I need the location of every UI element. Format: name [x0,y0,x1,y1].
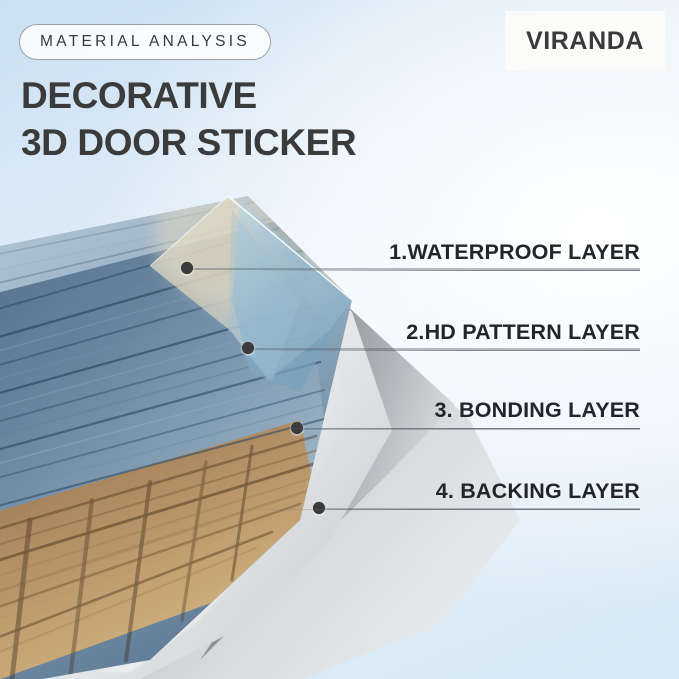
callout-rule [260,350,640,351]
callout-label: 2.HD PATTERN LAYER [260,320,640,350]
brand-name: VIRANDA [526,27,644,56]
callout-label: 3. BONDING LAYER [260,398,640,428]
badge-label: MATERIAL ANALYSIS [40,33,250,51]
headline-line-1: DECORATIVE [21,75,257,116]
page-title: DECORATIVE 3D DOOR STICKER [21,72,356,167]
brand-logo: VIRANDA [505,11,665,71]
leader-dot [242,342,254,354]
callout-hd-pattern-layer: 2.HD PATTERN LAYER [260,320,640,351]
callout-rule [260,270,640,271]
callout-backing-layer: 4. BACKING LAYER [260,479,640,510]
headline-line-2: 3D DOOR STICKER [21,119,356,166]
leader-dot [181,262,193,274]
callout-rule [260,509,640,510]
material-analysis-badge: MATERIAL ANALYSIS [19,24,271,60]
callout-bonding-layer: 3. BONDING LAYER [260,398,640,429]
poster-canvas: MATERIAL ANALYSIS DECORATIVE 3D DOOR STI… [0,0,679,679]
callout-rule [260,428,640,429]
callout-label: 4. BACKING LAYER [260,479,640,509]
callout-waterproof-layer: 1.WATERPROOF LAYER [260,240,640,271]
callout-label: 1.WATERPROOF LAYER [260,240,640,270]
